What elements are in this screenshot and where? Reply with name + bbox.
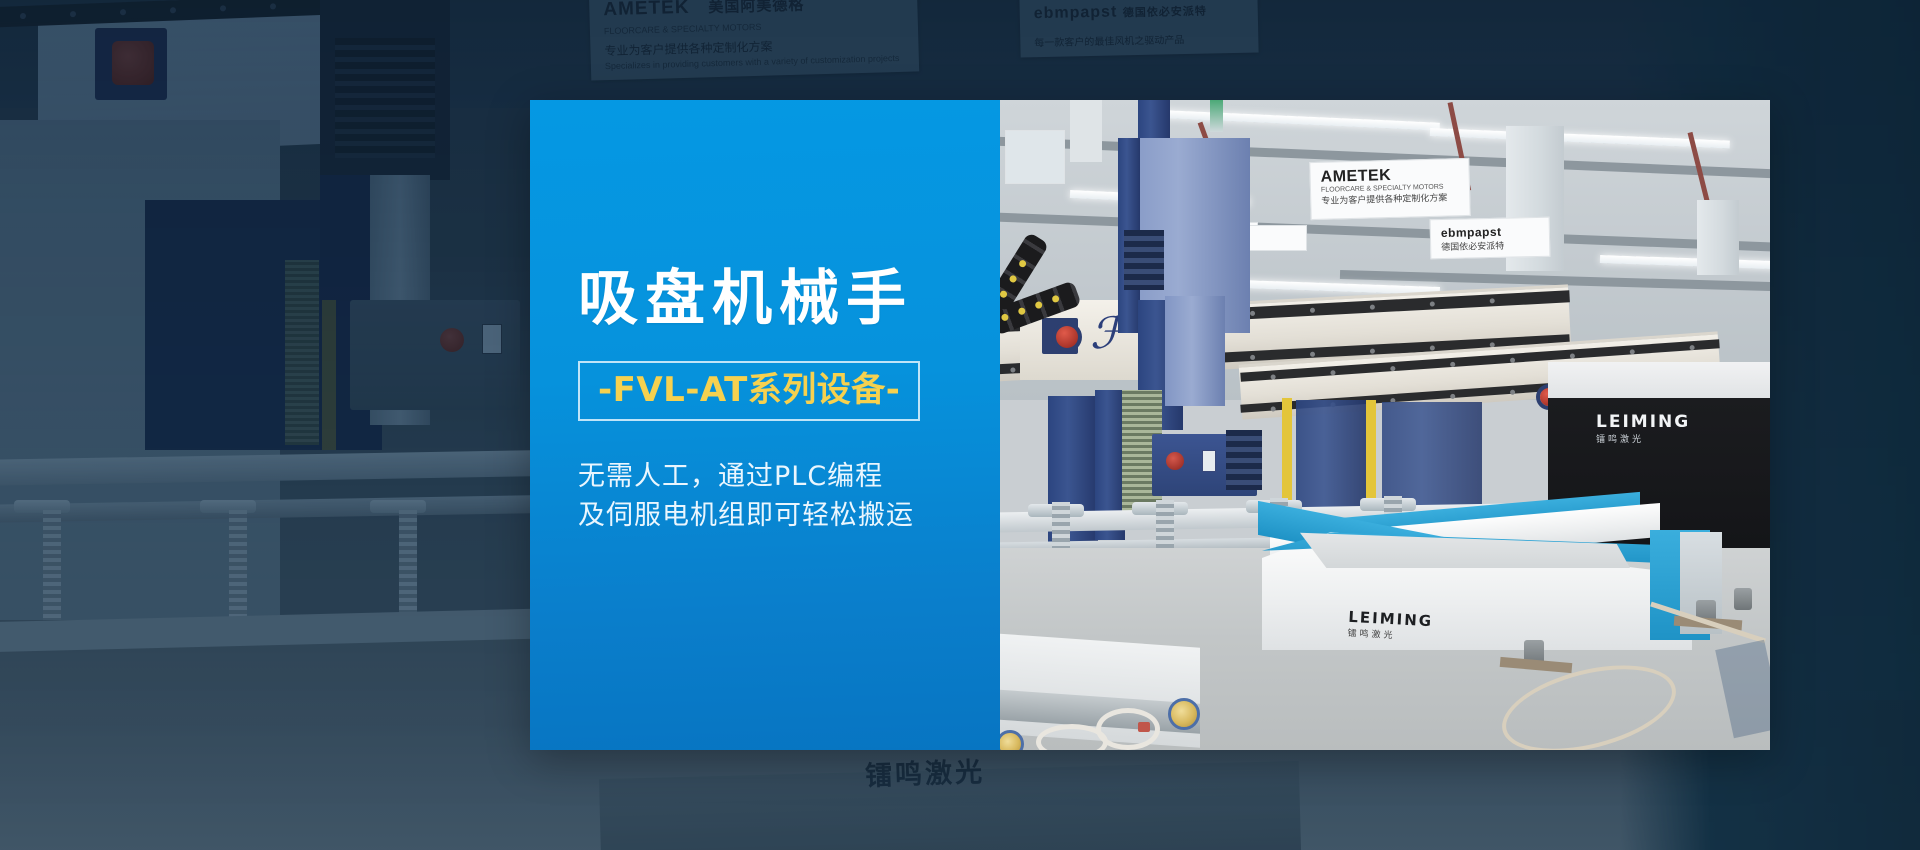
photo-control-vent xyxy=(1226,430,1262,490)
photo-sign-small-2 xyxy=(1245,225,1307,251)
photo-machine-brand: LEIMING 镭鸣激光 xyxy=(1596,412,1690,445)
photo-sign-ametek-cn: 专业为客户提供各种定制化方案 xyxy=(1321,190,1459,207)
product-subtitle: 无需人工，通过PLC编程 及伺服电机组即可轻松搬运 xyxy=(578,457,976,536)
photo-emergency-button xyxy=(1056,326,1078,348)
photo-machine-foot-3 xyxy=(1734,588,1752,610)
photo-safety-post-1 xyxy=(1282,398,1292,506)
series-badge: -FVL-AT系列设备- xyxy=(578,361,920,421)
product-photo: AMETEK FLOORCARE & SPECIALTY MOTORS 专业为客… xyxy=(1000,100,1770,750)
product-title: 吸盘机械手 xyxy=(578,268,976,331)
photo-enclosure-top xyxy=(1548,362,1770,402)
photo-sign-ametek: AMETEK FLOORCARE & SPECIALTY MOTORS 专业为客… xyxy=(1309,158,1470,220)
photo-safety-post-2 xyxy=(1366,400,1376,500)
photo-control-estop xyxy=(1166,452,1184,470)
photo-sign-small-3 xyxy=(1005,130,1065,184)
photo-caster-wheel-1 xyxy=(1168,698,1200,730)
photo-machine-brand-cn: 镭鸣激光 xyxy=(1596,432,1690,445)
photo-suction-leg-2 xyxy=(1156,500,1174,554)
text-panel-content: 吸盘机械手 -FVL-AT系列设备- 无需人工，通过PLC编程 及伺服电机组即可… xyxy=(578,268,976,536)
photo-strap-clip xyxy=(1138,722,1150,732)
photo-rear-frame xyxy=(1296,400,1366,510)
photo-machine-brand-text: LEIMING xyxy=(1596,412,1690,432)
photo-sign-ebmpapst-cn: 德国依必安派特 xyxy=(1441,238,1539,253)
subtitle-line-2: 及伺服电机组即可轻松搬运 xyxy=(578,496,976,535)
banner-card: 吸盘机械手 -FVL-AT系列设备- 无需人工，通过PLC编程 及伺服电机组即可… xyxy=(530,100,1770,750)
text-panel: 吸盘机械手 -FVL-AT系列设备- 无需人工，通过PLC编程 及伺服电机组即可… xyxy=(530,100,1000,750)
photo-top-box xyxy=(1070,100,1102,162)
photo-robot-column-light xyxy=(1165,296,1225,406)
photo-head-vent xyxy=(1124,230,1164,290)
photo-table-brand: LEIMING 镭鸣激光 xyxy=(1347,608,1433,643)
photo-green-sensor xyxy=(1210,100,1223,132)
series-badge-label: -FVL-AT系列设备- xyxy=(598,373,900,407)
subtitle-line-1: 无需人工，通过PLC编程 xyxy=(578,457,976,496)
photo-control-display xyxy=(1202,450,1216,472)
photo-sign-ebmpapst: ebmpapst 德国依必安派特 xyxy=(1430,217,1551,260)
photo-hanging-pillar-2 xyxy=(1697,200,1739,275)
product-banner: AMETEK 美国阿美德格 FLOORCARE & SPECIALTY MOTO… xyxy=(0,0,1920,850)
